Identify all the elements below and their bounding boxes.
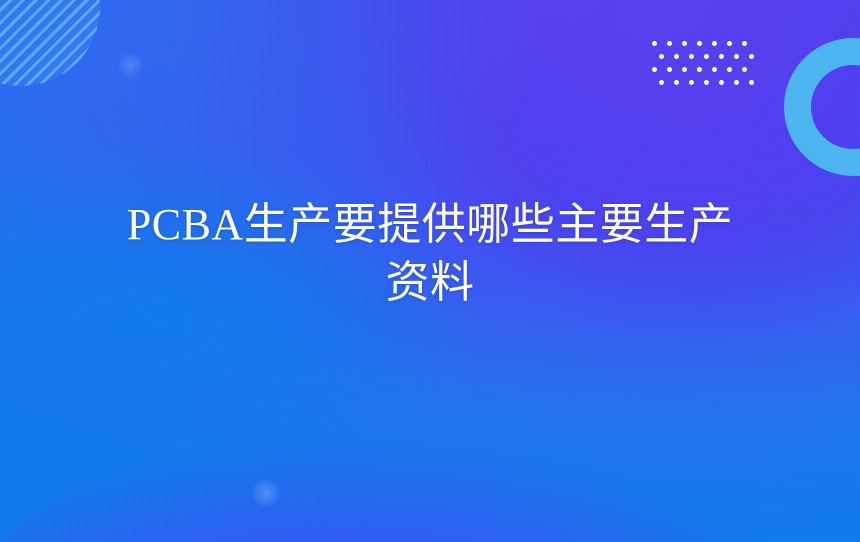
grid-dot xyxy=(659,54,664,59)
grid-dot xyxy=(682,41,687,46)
grid-dot xyxy=(689,80,694,85)
diagonal-stripes-pattern xyxy=(0,0,100,86)
grid-dot xyxy=(704,80,709,85)
grid-dot xyxy=(712,67,717,72)
slide-title: PCBA生产要提供哪些主要生产 资料 xyxy=(46,196,814,312)
grid-dot xyxy=(697,41,702,46)
slide-canvas: PCBA生产要提供哪些主要生产 资料 xyxy=(0,0,860,542)
grid-dot xyxy=(712,41,717,46)
grid-dot xyxy=(652,67,657,72)
grid-dot xyxy=(667,67,672,72)
grid-dot xyxy=(674,54,679,59)
grid-dot xyxy=(652,41,657,46)
grid-dot xyxy=(682,67,687,72)
grid-dot xyxy=(742,67,747,72)
grid-dot xyxy=(704,54,709,59)
striped-circle-decoration xyxy=(0,0,100,86)
grid-dot xyxy=(734,54,739,59)
grid-dot xyxy=(719,80,724,85)
grid-dot xyxy=(742,41,747,46)
grid-dot xyxy=(727,67,732,72)
grid-dot xyxy=(719,54,724,59)
soft-circle-upper-left xyxy=(117,52,143,78)
grid-dot xyxy=(667,41,672,46)
grid-dot xyxy=(697,67,702,72)
grid-dot xyxy=(734,80,739,85)
grid-dot xyxy=(659,80,664,85)
grid-dot xyxy=(749,80,754,85)
grid-dot xyxy=(674,80,679,85)
grid-dot xyxy=(749,54,754,59)
dot-grid-decoration xyxy=(652,41,748,89)
title-block: PCBA生产要提供哪些主要生产 资料 xyxy=(0,196,860,312)
soft-circle-lower-left xyxy=(251,478,281,508)
grid-dot xyxy=(689,54,694,59)
grid-dot xyxy=(727,41,732,46)
